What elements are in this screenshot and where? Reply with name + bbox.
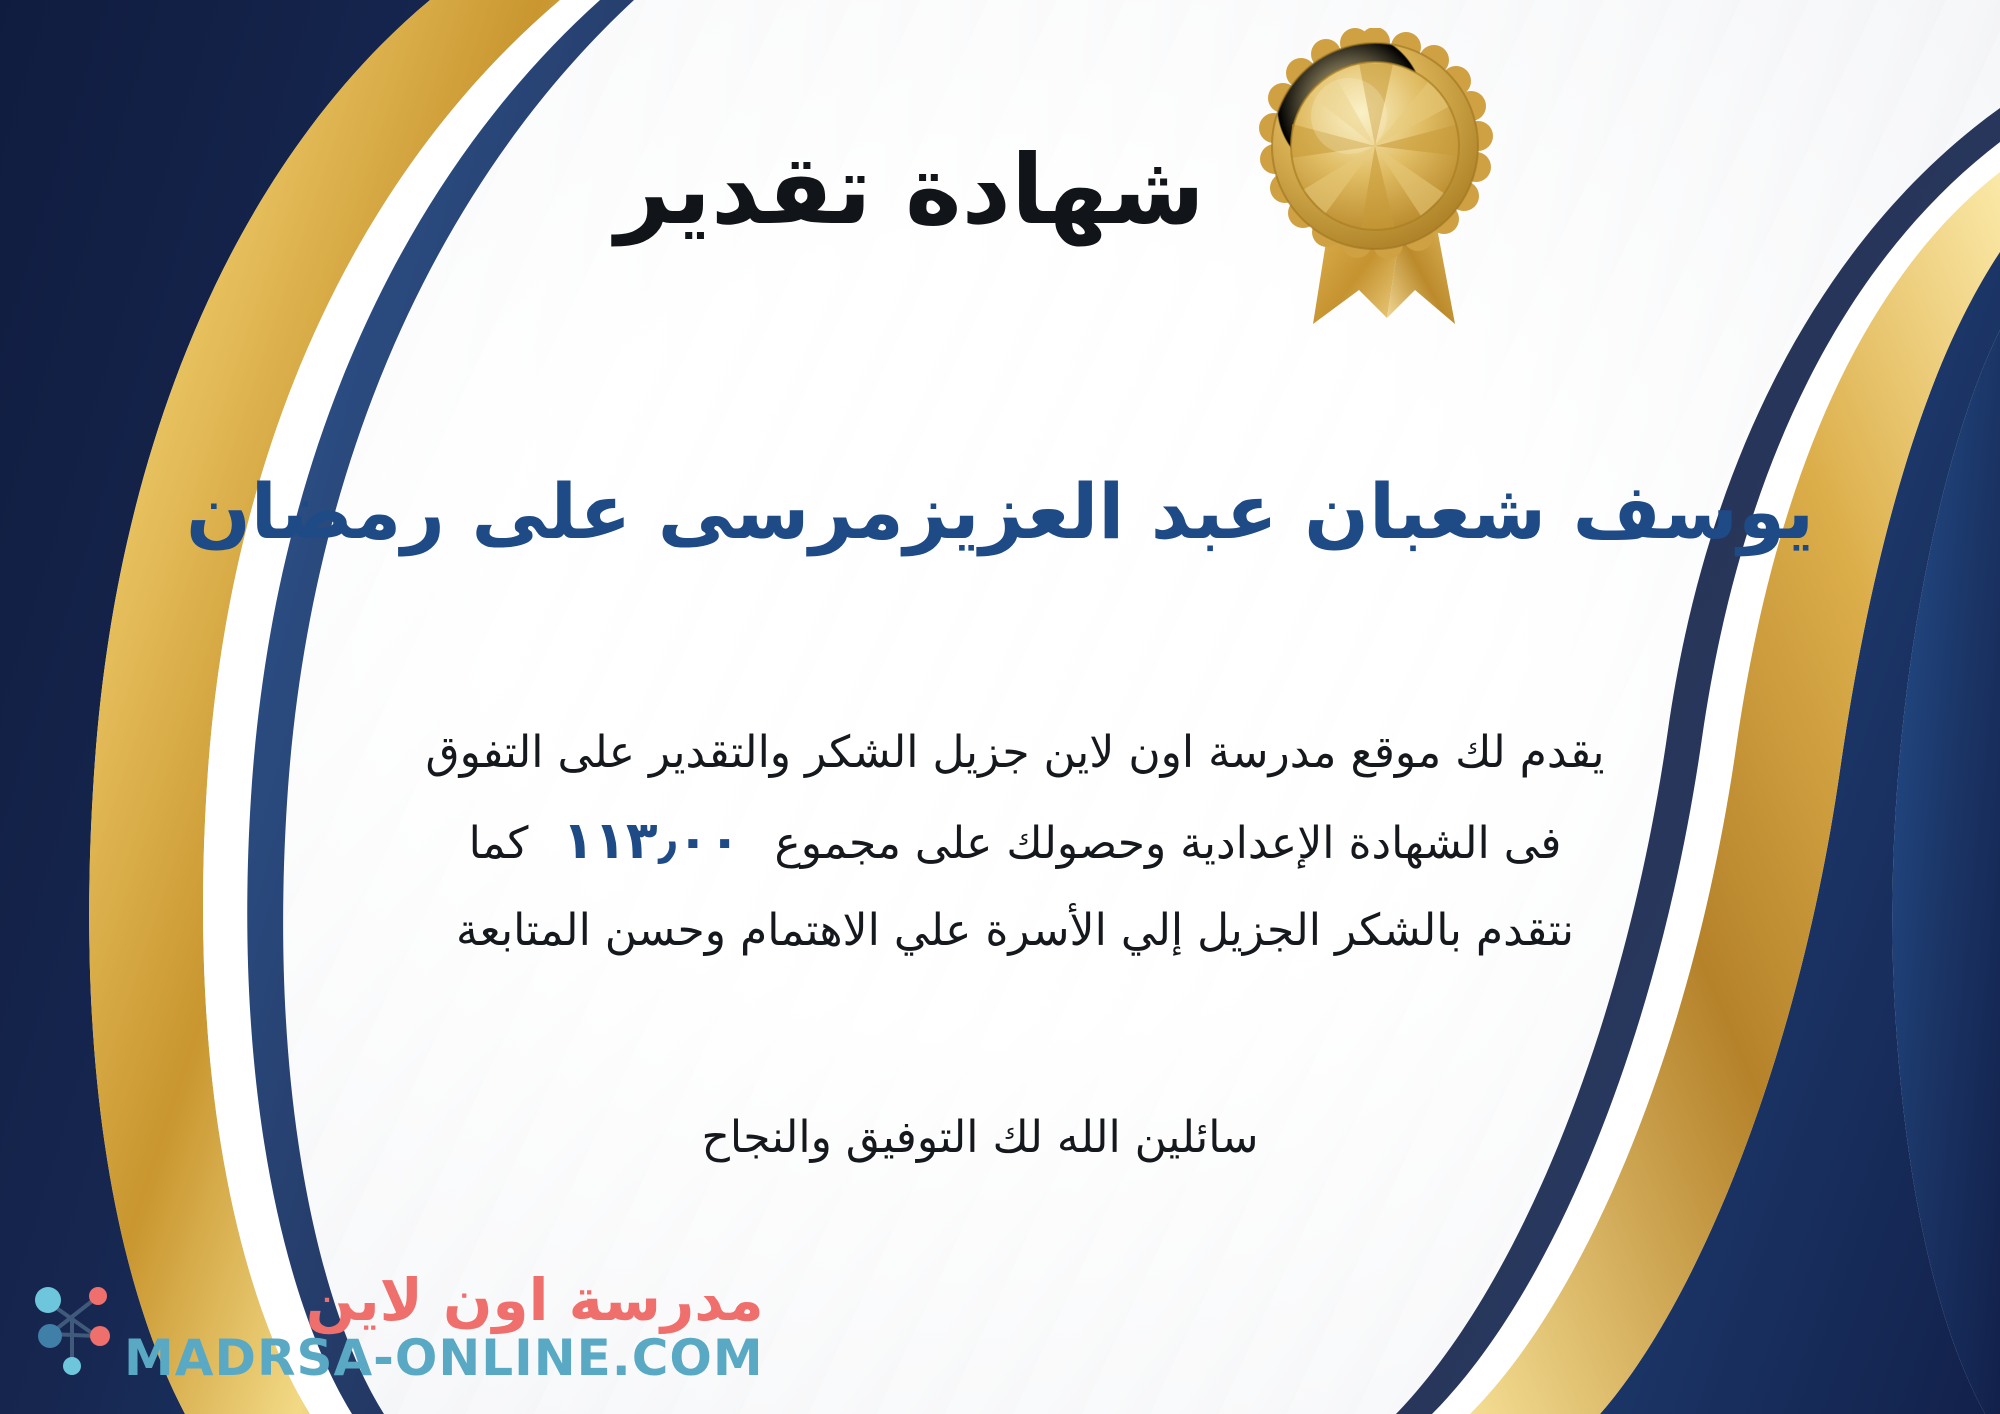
- recipient-name: يوسف شعبان عبد العزيزمرسى على رمضان: [0, 468, 2000, 555]
- closing-line: سائلين الله لك التوفيق والنجاح: [0, 1112, 2000, 1163]
- body-line-2-suffix: كما: [469, 818, 529, 869]
- body-line-2: فى الشهادة الإعدادية وحصولك على مجموع١١٣…: [120, 793, 1910, 889]
- certificate-content: شهادة تقدير يوسف شعبان عبد العزيزمرسى عل…: [0, 0, 2000, 1414]
- body-line-2-prefix: فى الشهادة الإعدادية وحصولك على مجموع: [775, 818, 1562, 869]
- brand-logo: مدرسة اون لاين MADRSA-ONLINE.COM: [26, 1270, 764, 1386]
- page-title: شهادة تقدير: [0, 140, 2000, 241]
- certificate-body: يقدم لك موقع مدرسة اون لاين جزيل الشكر و…: [120, 712, 1910, 971]
- brand-text: مدرسة اون لاين MADRSA-ONLINE.COM: [124, 1270, 764, 1386]
- score-value: ١١٣٫٠٠: [528, 811, 774, 871]
- gold-medal-rosette-icon: [1255, 28, 1495, 328]
- network-nodes-icon: [26, 1278, 118, 1378]
- brand-website: MADRSA-ONLINE.COM: [124, 1331, 764, 1386]
- brand-arabic-name: مدرسة اون لاين: [306, 1270, 764, 1331]
- certificate-canvas: شهادة تقدير يوسف شعبان عبد العزيزمرسى عل…: [0, 0, 2000, 1414]
- body-line-1: يقدم لك موقع مدرسة اون لاين جزيل الشكر و…: [120, 712, 1910, 793]
- body-line-3: نتقدم بالشكر الجزيل إلي الأسرة علي الاهت…: [120, 890, 1910, 971]
